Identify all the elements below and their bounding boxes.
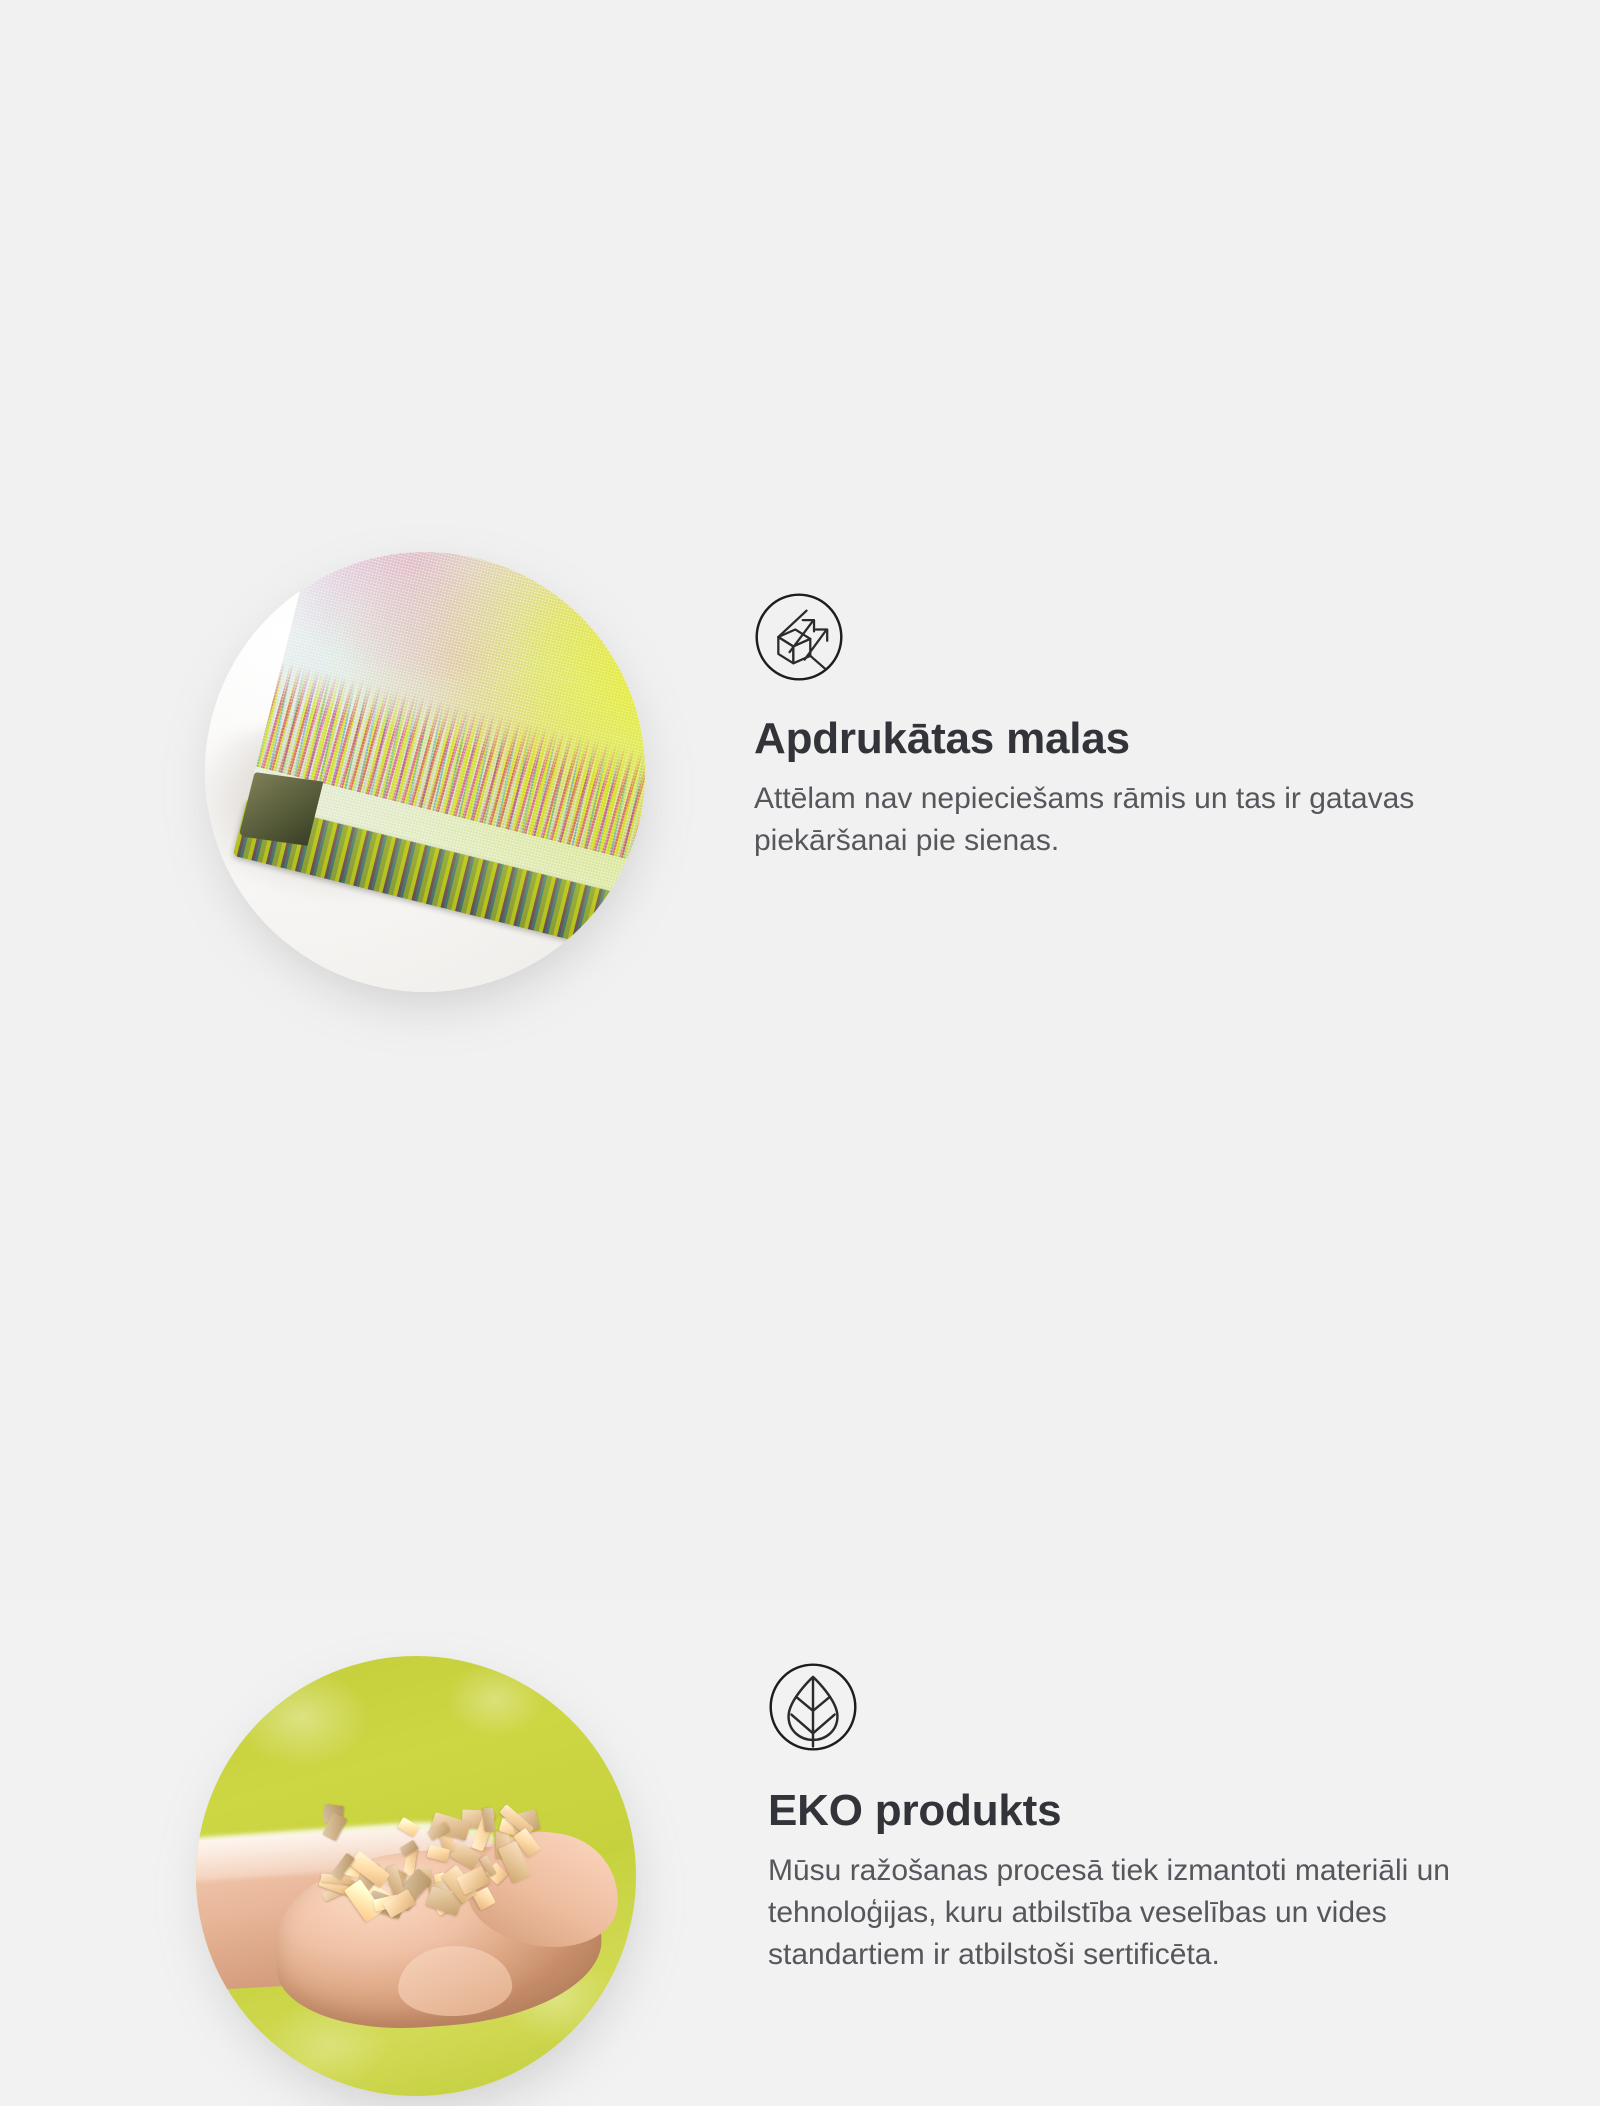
canvas-corner-photo xyxy=(205,552,645,992)
eco-product-text-column: EKO produkts Mūsu ražošanas procesā tiek… xyxy=(752,1660,1492,1976)
feature-title-printed-edges: Apdrukātas malas xyxy=(752,716,1482,762)
wood-chip xyxy=(397,1817,420,1837)
feature-title-eco-product: EKO produkts xyxy=(752,1788,1492,1834)
hand-with-wood-chips-photo xyxy=(196,1656,636,2096)
feature-block-printed-edges: Apdrukātas malas Attēlam nav nepieciešam… xyxy=(0,250,1600,780)
leaf-icon xyxy=(752,1660,860,1754)
feature-page: Apdrukātas malas Attēlam nav nepieciešam… xyxy=(0,0,1600,1600)
wood-chip xyxy=(484,1807,496,1832)
wood-chip-pile xyxy=(315,1801,561,1933)
feature-body-eco-product: Mūsu ražošanas procesā tiek izmantoti ma… xyxy=(752,1850,1492,1976)
wrapped-canvas-edge-icon xyxy=(752,590,846,684)
